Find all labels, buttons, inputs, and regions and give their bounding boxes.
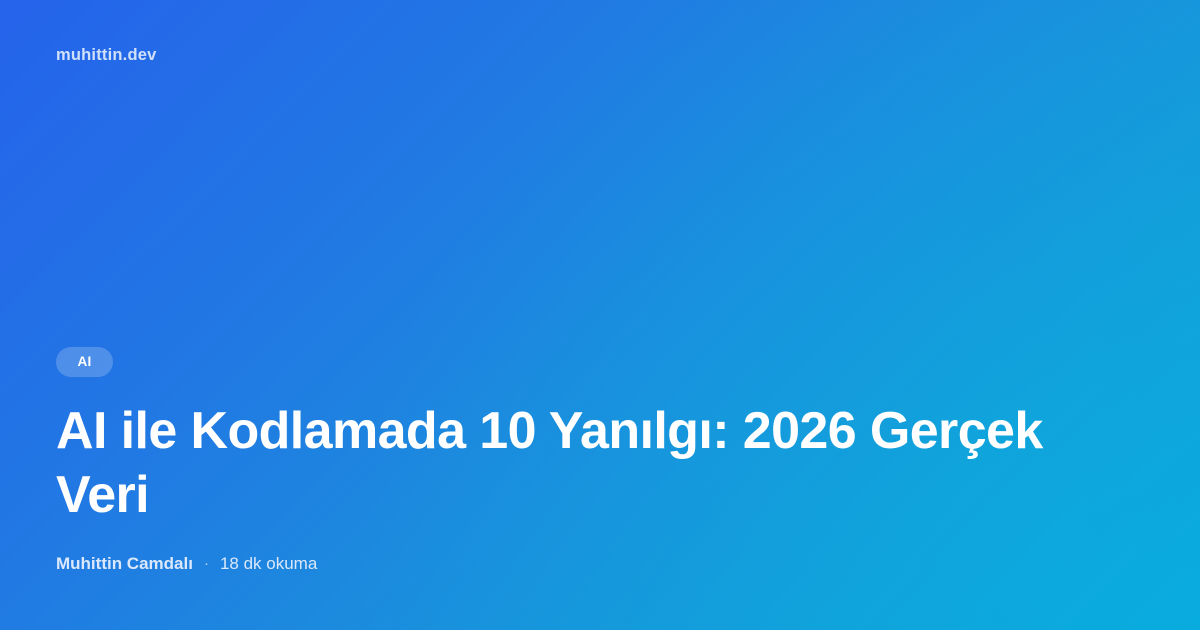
author-name: Muhittin Camdalı xyxy=(56,555,193,572)
card-content: muhittin.dev AI AI ile Kodlamada 10 Yanı… xyxy=(0,0,1200,630)
category-badge: AI xyxy=(56,347,113,377)
card-hero: AI AI ile Kodlamada 10 Yanılgı: 2026 Ger… xyxy=(56,347,1144,572)
og-share-card: muhittin.dev AI AI ile Kodlamada 10 Yanı… xyxy=(0,0,1200,630)
byline-separator: · xyxy=(204,556,209,571)
read-time: 18 dk okuma xyxy=(220,555,317,572)
byline: Muhittin Camdalı · 18 dk okuma xyxy=(56,555,317,572)
article-title: AI ile Kodlamada 10 Yanılgı: 2026 Gerçek… xyxy=(56,399,1068,527)
card-header: muhittin.dev xyxy=(56,47,1144,65)
site-name: muhittin.dev xyxy=(56,47,156,64)
